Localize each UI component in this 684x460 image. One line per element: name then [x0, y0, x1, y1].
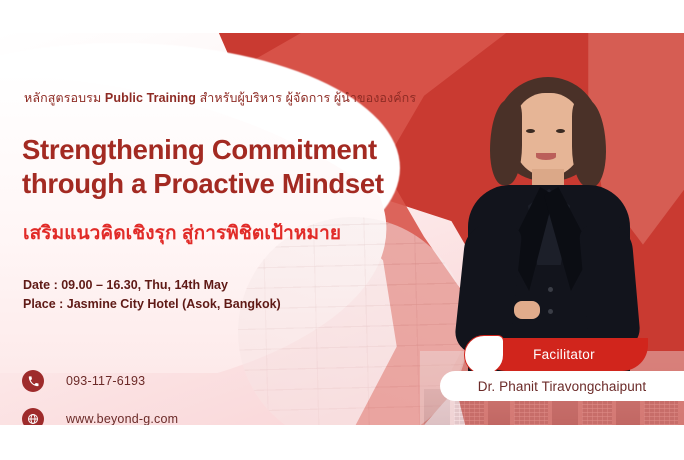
facilitator-name-card: Dr. Phanit Tiravongchaipunt — [440, 371, 684, 401]
contact-block: 093-117-6193 www.beyond-g.com — [22, 368, 178, 425]
promo-banner: หลักสูตรอบรม Public Training สำหรับผู้บร… — [0, 33, 684, 425]
contact-row-website[interactable]: www.beyond-g.com — [22, 406, 178, 425]
globe-icon — [22, 408, 44, 425]
portrait-eye-right — [556, 129, 565, 133]
portrait-suit-button — [548, 287, 553, 292]
kicker-prefix: หลักสูตรอบรม — [24, 91, 105, 105]
portrait-hand — [514, 301, 540, 319]
portrait-suit-button — [548, 309, 553, 314]
headline-title: Strengthening Commitment through a Proac… — [22, 133, 384, 200]
portrait-hair-left — [490, 99, 522, 185]
course-kicker: หลักสูตรอบรม Public Training สำหรับผู้บร… — [24, 88, 416, 108]
portrait-hair-right — [572, 99, 606, 187]
facilitator-label-pill: Facilitator — [480, 338, 648, 371]
website-url: www.beyond-g.com — [66, 412, 178, 425]
portrait-eye-left — [526, 129, 535, 133]
contact-row-phone[interactable]: 093-117-6193 — [22, 368, 178, 394]
headline-subtitle-thai: เสริมแนวคิดเชิงรุก สู่การพิชิตเป้าหมาย — [23, 218, 341, 248]
phone-icon — [22, 370, 44, 392]
event-details: Date : 09.00 – 16.30, Thu, 14th May Plac… — [23, 276, 281, 315]
phone-number: 093-117-6193 — [66, 374, 145, 388]
kicker-emphasis: Public Training — [105, 91, 196, 105]
portrait-arm-right — [579, 221, 642, 353]
portrait-mouth — [536, 153, 556, 160]
kicker-suffix: สำหรับผู้บริหาร ผู้จัดการ ผู้นำขององค์กร — [196, 91, 416, 105]
facilitator-circle-accent — [464, 335, 504, 375]
